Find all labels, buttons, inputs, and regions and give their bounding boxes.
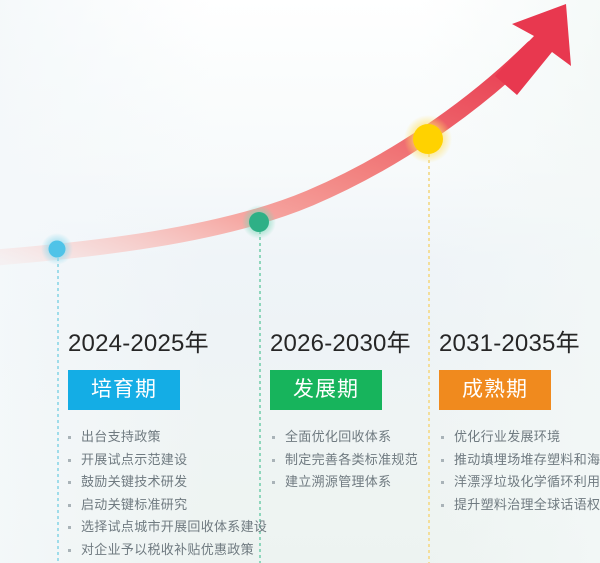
infographic-canvas: 2024-2025年 培育期 出台支持政策 开展试点示范建设 鼓励关键技术研发 … <box>0 0 600 563</box>
list-item: 开展试点示范建设 <box>65 449 257 472</box>
stage-badge-1[interactable]: 培育期 <box>68 370 180 410</box>
list-item: 对企业予以税收补贴优惠政策 <box>65 539 257 562</box>
node-dot-stage-3 <box>413 124 443 154</box>
stage-badge-3[interactable]: 成熟期 <box>439 370 551 410</box>
stage-column-2: 2026-2030年 发展期 全面优化回收体系 制定完善各类标准规范 建立溯源管… <box>259 330 429 494</box>
list-item: 鼓励关键技术研发 <box>65 471 257 494</box>
stage-period-3: 2031-2035年 <box>439 330 600 358</box>
stage-column-1: 2024-2025年 培育期 出台支持政策 开展试点示范建设 鼓励关键技术研发 … <box>57 330 257 561</box>
stage-columns: 2024-2025年 培育期 出台支持政策 开展试点示范建设 鼓励关键技术研发 … <box>0 330 600 563</box>
list-item: 优化行业发展环境 <box>438 426 600 449</box>
stage-points-1: 出台支持政策 开展试点示范建设 鼓励关键技术研发 启动关键标准研究 选择试点城市… <box>65 426 257 561</box>
list-item: 出台支持政策 <box>65 426 257 449</box>
stage-badge-2[interactable]: 发展期 <box>270 370 382 410</box>
node-dot-stage-2 <box>249 212 269 232</box>
list-item: 选择试点城市开展回收体系建设 <box>65 516 257 539</box>
list-item: 启动关键标准研究 <box>65 494 257 517</box>
stage-points-2: 全面优化回收体系 制定完善各类标准规范 建立溯源管理体系 <box>269 426 429 494</box>
stage-points-3: 优化行业发展环境 推动填埋场堆存塑料和海 洋漂浮垃圾化学循环利用 提升塑料治理全… <box>438 426 600 516</box>
list-item: 制定完善各类标准规范 <box>269 449 429 472</box>
list-item: 洋漂浮垃圾化学循环利用 <box>438 471 600 494</box>
list-item: 推动填埋场堆存塑料和海 <box>438 449 600 472</box>
stage-period-1: 2024-2025年 <box>68 330 257 358</box>
stage-column-3: 2031-2035年 成熟期 优化行业发展环境 推动填埋场堆存塑料和海 洋漂浮垃… <box>428 330 600 516</box>
stage-period-2: 2026-2030年 <box>270 330 429 358</box>
list-item: 建立溯源管理体系 <box>269 471 429 494</box>
node-dot-stage-1 <box>49 241 66 258</box>
list-item: 全面优化回收体系 <box>269 426 429 449</box>
list-item: 提升塑料治理全球话语权 <box>438 494 600 517</box>
